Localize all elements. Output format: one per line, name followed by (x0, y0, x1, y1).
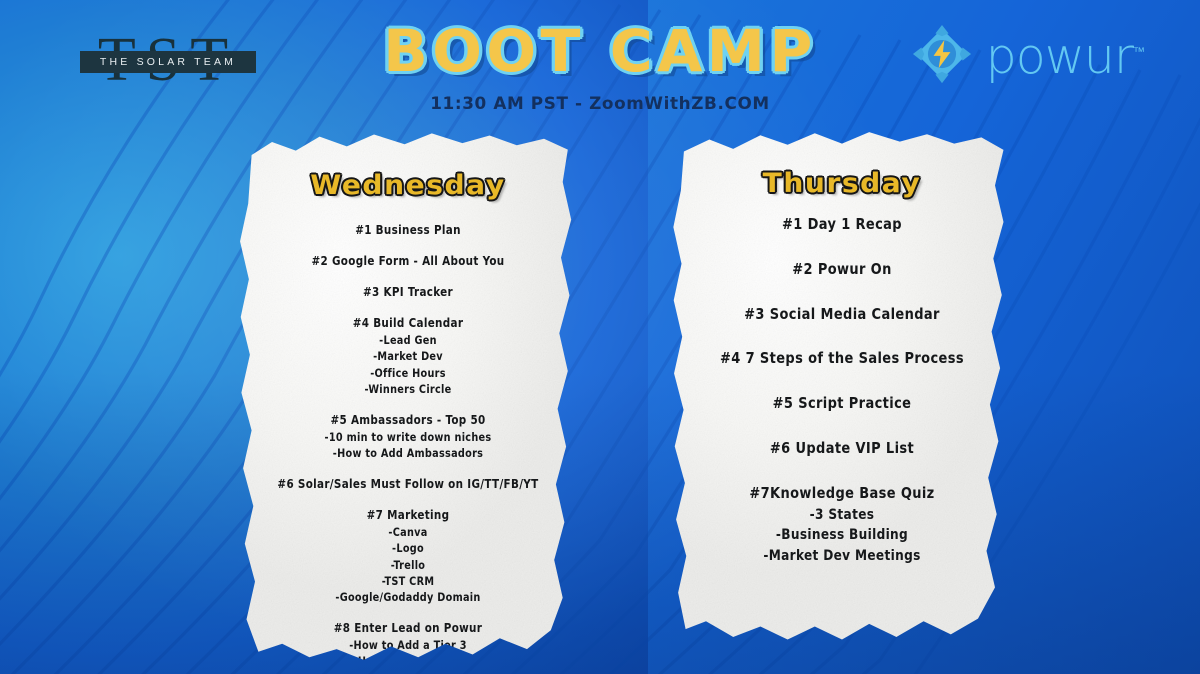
agenda-item: #1 Business Plan (263, 221, 553, 239)
agenda-subitem: -How to Add Ambassadors (263, 445, 553, 461)
agenda-subitem: -Lead Gen (263, 332, 553, 348)
agenda-subitem: -Market Dev Meetings (694, 546, 990, 567)
agenda-item: #4 7 Steps of the Sales Process (694, 347, 990, 370)
wednesday-list: #1 Business Plan#2 Google Form - All Abo… (252, 221, 564, 674)
agenda-group: #6 Update VIP List (686, 437, 998, 460)
agenda-group: #7 Marketing-Canva-Logo-Trello-TST CRM-G… (252, 506, 564, 606)
agenda-item: #7 Marketing (263, 506, 553, 524)
agenda-item: #5 Script Practice (694, 392, 990, 415)
boot-camp-flyer: TST THE SOLAR TEAM BOOT CAMP 11:30 AM PS… (0, 0, 1200, 674)
tst-logo-bar: THE SOLAR TEAM (80, 51, 256, 73)
agenda-item: #5 Ambassadors - Top 50 (263, 411, 553, 429)
agenda-item: #2 Powur On (694, 258, 990, 281)
agenda-item: #8 Enter Lead on Powur (263, 619, 553, 637)
agenda-subitem: -Office Hours (263, 365, 553, 381)
page-title: BOOT CAMP (286, 22, 913, 80)
powur-wordmark-text: powur (986, 28, 1133, 85)
agenda-subitem: -TST CRM (263, 573, 553, 589)
agenda-subitem: -Trello (263, 557, 553, 573)
agenda-subitem: -Canva (263, 524, 553, 540)
agenda-group: #2 Powur On (686, 258, 998, 281)
wednesday-content: Wednesday #1 Business Plan#2 Google Form… (238, 128, 578, 668)
agenda-item: #6 Solar/Sales Must Follow on IG/TT/FB/Y… (263, 475, 553, 493)
agenda-subitem: -10 min to write down niches (263, 429, 553, 445)
agenda-subitem: -Market Dev (263, 348, 553, 364)
tst-logo-tagline: THE SOLAR TEAM (100, 56, 236, 68)
thursday-heading: Thursday (680, 168, 1004, 199)
agenda-group: #7Knowledge Base Quiz-3 States-Business … (686, 482, 998, 567)
tst-logo-icon[interactable]: TST THE SOLAR TEAM (78, 24, 258, 96)
agenda-group: #5 Ambassadors - Top 50-10 min to write … (252, 411, 564, 462)
agenda-subitem: -Google/Godaddy Domain (263, 589, 553, 605)
thursday-paper-sheet: Thursday #1 Day 1 Recap#2 Powur On#3 Soc… (672, 128, 1012, 650)
agenda-item: #7Knowledge Base Quiz (694, 482, 990, 505)
agenda-item: #2 Google Form - All About You (263, 252, 553, 270)
agenda-group: #1 Business Plan (252, 221, 564, 239)
agenda-group: #6 Solar/Sales Must Follow on IG/TT/FB/Y… (252, 475, 564, 493)
powur-sunburst-bolt-icon (912, 24, 972, 84)
thursday-content: Thursday #1 Day 1 Recap#2 Powur On#3 Soc… (672, 128, 1012, 650)
header: TST THE SOLAR TEAM BOOT CAMP 11:30 AM PS… (0, 0, 1200, 122)
thursday-list: #1 Day 1 Recap#2 Powur On#3 Social Media… (686, 213, 998, 566)
powur-logo[interactable]: powur™ (912, 24, 1145, 84)
agenda-group: #2 Google Form - All About You (252, 252, 564, 270)
page-subtitle: 11:30 AM PST - ZoomWithZB.COM (314, 94, 885, 113)
agenda-subitem: -Business Building (694, 525, 990, 546)
powur-wordmark: powur™ (986, 32, 1145, 81)
agenda-group: #3 KPI Tracker (252, 283, 564, 301)
agenda-item: #3 Social Media Calendar (694, 303, 990, 326)
agenda-group: #3 Social Media Calendar (686, 303, 998, 326)
agenda-item: #3 KPI Tracker (263, 283, 553, 301)
agenda-group: #4 Build Calendar-Lead Gen-Market Dev-Of… (252, 314, 564, 398)
powur-trademark-symbol: ™ (1133, 44, 1145, 58)
agenda-group: #1 Day 1 Recap (686, 213, 998, 236)
agenda-group: #4 7 Steps of the Sales Process (686, 347, 998, 370)
agenda-item: #6 Update VIP List (694, 437, 990, 460)
wednesday-paper-sheet: Wednesday #1 Business Plan#2 Google Form… (238, 128, 578, 668)
agenda-group: #5 Script Practice (686, 392, 998, 415)
agenda-subitem: -3 States (694, 505, 990, 526)
agenda-item: #4 Build Calendar (263, 314, 553, 332)
title-block: BOOT CAMP 11:30 AM PST - ZoomWithZB.COM (320, 22, 880, 113)
agenda-subitem: -Logo (263, 540, 553, 556)
wednesday-heading: Wednesday (246, 170, 570, 201)
agenda-subitem: -Winners Circle (263, 381, 553, 397)
agenda-item: #1 Day 1 Recap (694, 213, 990, 236)
